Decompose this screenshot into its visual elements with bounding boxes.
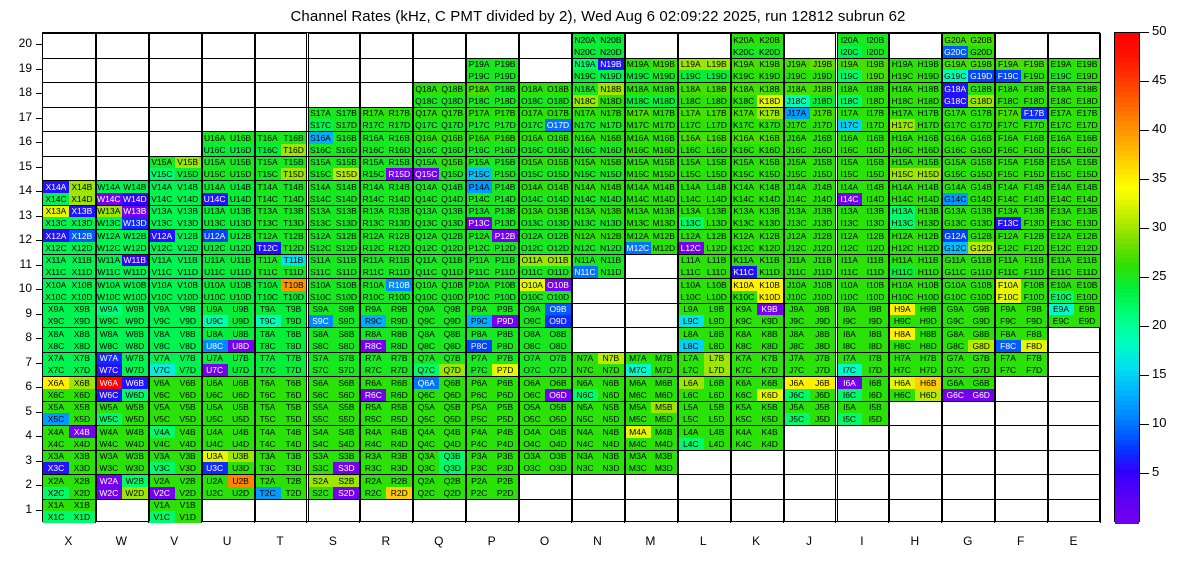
heatmap-cell: K13AK13BK13CK13D (731, 205, 784, 230)
heatmap-cell (889, 425, 942, 450)
heatmap-cell (202, 33, 255, 58)
channel-label: V9D (175, 317, 201, 326)
channel-quadrant: V8C (149, 340, 175, 352)
channel-label: R13A (360, 207, 386, 216)
channel-quadrant: S6C (308, 389, 334, 401)
heatmap-cell (889, 474, 942, 499)
channel-quadrant: H17B (915, 108, 941, 120)
channel-label: U14B (228, 183, 254, 192)
channel-quadrant: V4B (175, 426, 201, 438)
channel-label: N15C (572, 170, 598, 179)
channel-label: U2C (202, 488, 228, 497)
channel-quadrant: G7C (942, 364, 968, 376)
heatmap-cell (731, 499, 784, 524)
channel-quadrant: N19B (598, 59, 624, 71)
channel-quadrant: H18C (889, 95, 915, 107)
channel-quadrant: W4A (96, 426, 122, 438)
channel-quadrant: R15A (360, 157, 386, 169)
channel-label: V15A (149, 158, 175, 167)
channel-quadrant: J16B (810, 132, 836, 144)
channel-label: K10B (757, 281, 783, 290)
channel-quadrant: U9A (202, 304, 228, 316)
channel-quadrant: X6C (43, 389, 69, 401)
channel-quadrant: M5A (625, 402, 651, 414)
channel-quadrant: K4B (757, 426, 783, 438)
y-axis-tick (36, 44, 42, 45)
channel-label: W3A (96, 452, 122, 461)
heatmap-cell: P7AP7BP7CP7D (466, 352, 519, 377)
channel-label: W8D (122, 341, 148, 350)
heatmap-cell: K17AK17BK17CK17D (731, 107, 784, 132)
heatmap-cell (43, 33, 96, 58)
channel-label: P13B (492, 207, 518, 216)
channel-quadrant: M19D (651, 70, 677, 82)
channel-quadrant: F13C (995, 217, 1021, 229)
channel-quadrant: X6B (69, 377, 95, 389)
channel-label: I16B (862, 134, 888, 143)
channel-label: W13A (96, 207, 122, 216)
channel-label: J15B (810, 158, 836, 167)
heatmap-cell (995, 425, 1048, 450)
heatmap-cell: L16AL16BL16CL16D (678, 131, 731, 156)
channel-quadrant: T8C (255, 340, 281, 352)
channel-quadrant: U7A (202, 353, 228, 365)
channel-quadrant: N16B (598, 132, 624, 144)
channel-label: N3C (572, 464, 598, 473)
channel-quadrant: R3A (360, 451, 386, 463)
channel-label: N19C (572, 72, 598, 81)
heatmap-cell: O17AO17BO17CO17D (519, 107, 572, 132)
channel-quadrant: O12C (519, 242, 545, 254)
channel-quadrant: H6A (889, 377, 915, 389)
channel-quadrant: G13C (942, 217, 968, 229)
channel-quadrant: L10C (678, 291, 704, 303)
heatmap-cell: M14AM14BM14CM14D (625, 180, 678, 205)
channel-label: M12A (625, 232, 651, 241)
channel-label: T4C (255, 439, 281, 448)
channel-label: U8D (228, 341, 254, 350)
channel-quadrant: S10B (333, 279, 359, 291)
channel-label: K6A (731, 379, 757, 388)
heatmap-cell: E14AE14BE14CE14D (1048, 180, 1101, 205)
channel-quadrant: K4C (731, 438, 757, 450)
channel-quadrant: Q14B (439, 181, 465, 193)
channel-quadrant: K4D (757, 438, 783, 450)
channel-label: L5B (704, 403, 730, 412)
channel-label: O8D (545, 341, 571, 350)
channel-label: O13D (545, 219, 571, 228)
channel-label: T15B (281, 158, 307, 167)
channel-quadrant: I15A (837, 157, 863, 169)
channel-quadrant: Q8B (439, 328, 465, 340)
channel-quadrant: T9B (281, 304, 307, 316)
channel-label: E18A (1048, 85, 1074, 94)
channel-label: K8B (757, 330, 783, 339)
channel-quadrant: F9D (1021, 315, 1047, 327)
channel-label: J10B (810, 281, 836, 290)
channel-label: U10B (228, 281, 254, 290)
heatmap-cell: W9AW9BW9CW9D (96, 303, 149, 328)
channel-quadrant: I14B (862, 181, 888, 193)
channel-label: K17C (731, 121, 757, 130)
channel-label: U15B (228, 158, 254, 167)
channel-label: R3A (360, 452, 386, 461)
channel-quadrant: V6B (175, 377, 201, 389)
channel-quadrant: M18B (651, 83, 677, 95)
channel-quadrant: W11A (96, 255, 122, 267)
channel-label: O8C (519, 341, 545, 350)
channel-quadrant: O9C (519, 315, 545, 327)
channel-quadrant: F10D (1021, 291, 1047, 303)
channel-quadrant: S4A (308, 426, 334, 438)
channel-label: L15A (678, 158, 704, 167)
channel-label: P6B (492, 379, 518, 388)
channel-quadrant: X8B (69, 328, 95, 340)
channel-quadrant: R15C (360, 168, 386, 180)
heatmap-cell (1048, 352, 1101, 377)
channel-label: N6B (598, 379, 624, 388)
channel-quadrant: W7D (122, 364, 148, 376)
heatmap-cell: H10AH10BH10CH10D (889, 278, 942, 303)
channel-label: N17D (598, 121, 624, 130)
channel-quadrant: E19A (1048, 59, 1074, 71)
channel-label: K8C (731, 341, 757, 350)
channel-label: E11A (1048, 256, 1074, 265)
heatmap-cell (96, 33, 149, 58)
channel-label: F13D (1021, 219, 1047, 228)
channel-quadrant: Q6C (413, 389, 439, 401)
channel-quadrant: G6D (968, 389, 994, 401)
channel-label: G11A (942, 256, 968, 265)
heatmap-cell: E10AE10BE10CE10D (1048, 278, 1101, 303)
channel-quadrant: O9D (545, 315, 571, 327)
channel-quadrant: M3B (651, 451, 677, 463)
channel-label: X13C (43, 219, 69, 228)
channel-quadrant: H7C (889, 364, 915, 376)
channel-label: S5C (308, 415, 334, 424)
heatmap-cell (1048, 425, 1101, 450)
heatmap-cell (942, 499, 995, 524)
channel-quadrant: Q18D (439, 95, 465, 107)
channel-quadrant: H13D (915, 217, 941, 229)
channel-label: G15A (942, 158, 968, 167)
channel-label: E19D (1074, 72, 1100, 81)
channel-label: V4B (175, 428, 201, 437)
channel-label: K15A (731, 158, 757, 167)
channel-quadrant: K15C (731, 168, 757, 180)
channel-label: N15D (598, 170, 624, 179)
channel-label: J12B (810, 232, 836, 241)
channel-label: P8C (466, 341, 492, 350)
channel-label: U3D (228, 464, 254, 473)
heatmap-cell: Q10AQ10BQ10CQ10D (413, 278, 466, 303)
channel-quadrant: T6D (281, 389, 307, 401)
channel-label: G9B (968, 305, 994, 314)
channel-quadrant: Q18B (439, 83, 465, 95)
channel-label: O15A (519, 158, 545, 167)
channel-label: U16C (202, 145, 228, 154)
heatmap-cell: U16AU16BU16CU16D (202, 131, 255, 156)
channel-quadrant: P8A (466, 328, 492, 340)
heatmap-cell: O5AO5BO5CO5D (519, 401, 572, 426)
channel-label: U5C (202, 415, 228, 424)
channel-label: Q14D (439, 194, 465, 203)
channel-label: M7A (625, 354, 651, 363)
channel-quadrant: I16B (862, 132, 888, 144)
channel-quadrant: T15B (281, 157, 307, 169)
channel-quadrant: O10B (545, 279, 571, 291)
channel-quadrant: T2B (281, 475, 307, 487)
channel-label: V10D (175, 292, 201, 301)
channel-label: P2B (492, 477, 518, 486)
channel-quadrant: V12B (175, 230, 201, 242)
channel-label: G14B (968, 183, 994, 192)
heatmap-cell: N18AN18BN18CN18D (572, 82, 625, 107)
channel-label: I6B (862, 379, 888, 388)
channel-quadrant: Q16A (413, 132, 439, 144)
heatmap-cell: F15AF15BF15CF15D (995, 156, 1048, 181)
channel-label: L17C (678, 121, 704, 130)
channel-quadrant: X10C (43, 291, 69, 303)
channel-quadrant: N7C (572, 364, 598, 376)
channel-quadrant: P15D (492, 168, 518, 180)
channel-quadrant: L13A (678, 206, 704, 218)
channel-label: I5C (837, 415, 863, 424)
heatmap-cell: Q2AQ2BQ2CQ2D (413, 474, 466, 499)
channel-label: L10D (704, 292, 730, 301)
channel-label: W11C (96, 268, 122, 277)
channel-label: I5D (862, 415, 888, 424)
channel-quadrant: J19D (810, 70, 836, 82)
channel-quadrant: U7D (228, 364, 254, 376)
channel-label: P7B (492, 354, 518, 363)
channel-quadrant: G12C (942, 242, 968, 254)
heatmap-cell: T9AT9BT9CT9D (255, 303, 308, 328)
channel-quadrant: S15A (308, 157, 334, 169)
x-axis-label: S (306, 534, 359, 548)
channel-quadrant: O12A (519, 230, 545, 242)
channel-label: P11C (466, 268, 492, 277)
channel-quadrant: L17D (704, 119, 730, 131)
channel-quadrant: J6C (784, 389, 810, 401)
channel-label: H10B (915, 281, 941, 290)
channel-label: F12C (995, 243, 1021, 252)
channel-quadrant: G13D (968, 217, 994, 229)
x-axis-label: G (941, 534, 994, 548)
channel-label: W10B (122, 281, 148, 290)
heatmap-cell: R10AR10BR10CR10D (360, 278, 413, 303)
channel-quadrant: R12C (360, 242, 386, 254)
channel-label: F7C (995, 366, 1021, 375)
channel-label: R16B (386, 134, 412, 143)
channel-label: T7D (281, 366, 307, 375)
channel-label: J9C (784, 317, 810, 326)
channel-quadrant: V5A (149, 402, 175, 414)
channel-quadrant: S16B (333, 132, 359, 144)
channel-label: N20A (572, 36, 598, 45)
channel-quadrant: K18B (757, 83, 783, 95)
channel-quadrant: I10B (862, 279, 888, 291)
channel-label: K14A (731, 183, 757, 192)
channel-quadrant: U8D (228, 340, 254, 352)
grid-line-horizontal (43, 107, 1099, 108)
channel-quadrant: S8B (333, 328, 359, 340)
channel-label: R6A (360, 379, 386, 388)
channel-label: E19B (1074, 60, 1100, 69)
channel-quadrant: F18B (1021, 83, 1047, 95)
channel-quadrant: N7B (598, 353, 624, 365)
channel-quadrant: U16C (202, 144, 228, 156)
channel-label: W2C (96, 488, 122, 497)
heatmap-cell: O16AO16BO16CO16D (519, 131, 572, 156)
channel-label: J9B (810, 305, 836, 314)
channel-label: O4B (545, 428, 571, 437)
channel-label: G16D (968, 145, 994, 154)
heatmap-cell: W14AW14BW14CW14D (96, 180, 149, 205)
channel-quadrant: G20C (942, 46, 968, 58)
channel-quadrant: E14D (1074, 193, 1100, 205)
channel-label: L17A (678, 109, 704, 118)
channel-label: X4D (69, 439, 95, 448)
channel-label: P18C (466, 96, 492, 105)
channel-label: G15C (942, 170, 968, 179)
channel-quadrant: P6C (466, 389, 492, 401)
channel-quadrant: W13D (122, 217, 148, 229)
channel-quadrant: F10C (995, 291, 1021, 303)
channel-label: G6B (968, 379, 994, 388)
channel-quadrant: K20C (731, 46, 757, 58)
channel-quadrant: K17A (731, 108, 757, 120)
channel-label: T6D (281, 390, 307, 399)
channel-quadrant: S3D (333, 462, 359, 474)
channel-quadrant: H15D (915, 168, 941, 180)
channel-label: M17A (625, 109, 651, 118)
channel-quadrant: H12D (915, 242, 941, 254)
channel-label: T10A (255, 281, 281, 290)
channel-label: K13A (731, 207, 757, 216)
channel-quadrant: L19A (678, 59, 704, 71)
channel-label: W2A (96, 477, 122, 486)
channel-quadrant: N14C (572, 193, 598, 205)
channel-label: K17A (731, 109, 757, 118)
channel-label: M15B (651, 158, 677, 167)
channel-quadrant: T2C (255, 487, 281, 499)
channel-label: Q8D (439, 341, 465, 350)
heatmap-cell: G20AG20BG20CG20D (942, 33, 995, 58)
channel-label: X9D (69, 317, 95, 326)
channel-quadrant: I12C (837, 242, 863, 254)
channel-label: N12C (572, 243, 598, 252)
channel-label: V9C (149, 317, 175, 326)
channel-quadrant: N13B (598, 206, 624, 218)
channel-label: E10C (1048, 292, 1074, 301)
channel-quadrant: L6B (704, 377, 730, 389)
heatmap-cell: H18AH18BH18CH18D (889, 82, 942, 107)
channel-quadrant: F14D (1021, 193, 1047, 205)
channel-label: K20C (731, 47, 757, 56)
channel-label: O11B (545, 256, 571, 265)
channel-quadrant: K13A (731, 206, 757, 218)
channel-quadrant: N11A (572, 255, 598, 267)
channel-quadrant: Q13A (413, 206, 439, 218)
channel-label: I14C (837, 194, 863, 203)
channel-quadrant: R13D (386, 217, 412, 229)
channel-label: O11D (545, 268, 571, 277)
channel-label: J13D (810, 219, 836, 228)
heatmap-cell: N20AN20BN20CN20D (572, 33, 625, 58)
channel-quadrant: I6C (837, 389, 863, 401)
grid-line-horizontal (43, 205, 1099, 206)
channel-label: P2D (492, 488, 518, 497)
channel-label: H13A (889, 207, 915, 216)
channel-label: H18A (889, 85, 915, 94)
channel-label: J6D (810, 390, 836, 399)
channel-quadrant: G10C (942, 291, 968, 303)
channel-quadrant: J5B (810, 402, 836, 414)
channel-label: V12C (149, 243, 175, 252)
channel-label: P12B (492, 232, 518, 241)
channel-label: R14C (360, 194, 386, 203)
channel-quadrant: T15D (281, 168, 307, 180)
channel-label: W14A (96, 183, 122, 192)
channel-quadrant: P9D (492, 315, 518, 327)
channel-quadrant: V5D (175, 413, 201, 425)
channel-quadrant: F17A (995, 108, 1021, 120)
heatmap-cell: H17AH17BH17CH17D (889, 107, 942, 132)
channel-quadrant: K9B (757, 304, 783, 316)
channel-quadrant: Q11C (413, 266, 439, 278)
channel-label: E9D (1074, 317, 1100, 326)
x-axis-label: O (518, 534, 571, 548)
channel-quadrant: U4C (202, 438, 228, 450)
channel-label: K8A (731, 330, 757, 339)
channel-quadrant: Q17A (413, 108, 439, 120)
channel-quadrant: W2B (122, 475, 148, 487)
channel-label: S4C (308, 439, 334, 448)
channel-quadrant: W13B (122, 206, 148, 218)
channel-label: L4C (678, 439, 704, 448)
heatmap-cell: Q8AQ8BQ8CQ8D (413, 327, 466, 352)
channel-quadrant: U10A (202, 279, 228, 291)
channel-label: I18B (862, 85, 888, 94)
channel-label: X4B (69, 428, 95, 437)
heatmap-cell: W5AW5BW5CW5D (96, 401, 149, 426)
channel-label: W8B (122, 330, 148, 339)
heatmap-cell: P4AP4BP4CP4D (466, 425, 519, 450)
channel-quadrant: U13B (228, 206, 254, 218)
channel-quadrant: N16A (572, 132, 598, 144)
channel-label: I15C (837, 170, 863, 179)
channel-quadrant: P12D (492, 242, 518, 254)
channel-quadrant: E18B (1074, 83, 1100, 95)
channel-quadrant: M12A (625, 230, 651, 242)
channel-quadrant: J17C (784, 119, 810, 131)
channel-quadrant: X8A (43, 328, 69, 340)
channel-quadrant: E12D (1074, 242, 1100, 254)
channel-quadrant: W10A (96, 279, 122, 291)
x-axis-label: K (730, 534, 783, 548)
heatmap-cell: S17AS17BS17CS17D (308, 107, 361, 132)
channel-label: S5D (333, 415, 359, 424)
heatmap-cell: X2AX2BX2CX2D (43, 474, 96, 499)
channel-quadrant: K13C (731, 217, 757, 229)
channel-label: P9C (466, 317, 492, 326)
y-axis-tick (36, 167, 42, 168)
channel-label: S14D (333, 194, 359, 203)
heatmap-cell (837, 425, 890, 450)
channel-quadrant: F14B (1021, 181, 1047, 193)
channel-quadrant: O8C (519, 340, 545, 352)
